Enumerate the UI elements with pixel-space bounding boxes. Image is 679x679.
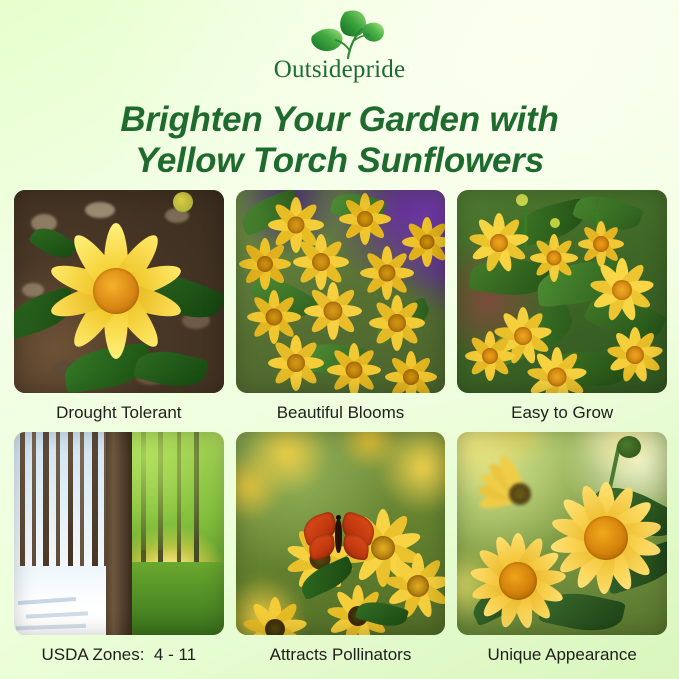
feature-caption: Easy to Grow <box>457 393 667 432</box>
feature-image-drought-tolerant <box>14 190 224 393</box>
feature-caption: Drought Tolerant <box>14 393 224 432</box>
leaf-sprout-icon <box>292 6 388 60</box>
feature-caption: Attracts Pollinators <box>236 635 446 674</box>
feature-card: Beautiful Blooms <box>236 190 446 432</box>
feature-caption: Beautiful Blooms <box>236 393 446 432</box>
feature-card: Drought Tolerant <box>14 190 224 432</box>
brand-logo: Outsidepride <box>0 6 679 84</box>
feature-image-usda-zones <box>14 432 224 635</box>
feature-caption: Unique Appearance <box>457 635 667 674</box>
product-infographic: Outsidepride Brighten Your Garden with Y… <box>0 0 679 679</box>
feature-image-beautiful-blooms <box>236 190 446 393</box>
feature-image-easy-to-grow <box>457 190 667 393</box>
feature-card: Easy to Grow <box>457 190 667 432</box>
feature-caption: USDA Zones: 4 - 11 <box>14 635 224 674</box>
feature-card: USDA Zones: 4 - 11 <box>14 432 224 674</box>
page-title: Brighten Your Garden with Yellow Torch S… <box>0 99 679 181</box>
page-title-line-1: Brighten Your Garden with <box>0 99 679 140</box>
feature-image-unique-appearance <box>457 432 667 635</box>
feature-image-attracts-pollinators <box>236 432 446 635</box>
page-title-line-2: Yellow Torch Sunflowers <box>0 140 679 181</box>
feature-grid: Drought Tolerant <box>14 190 667 674</box>
brand-wordmark: Outsidepride <box>0 56 679 84</box>
feature-card: Unique Appearance <box>457 432 667 674</box>
feature-card: Attracts Pollinators <box>236 432 446 674</box>
